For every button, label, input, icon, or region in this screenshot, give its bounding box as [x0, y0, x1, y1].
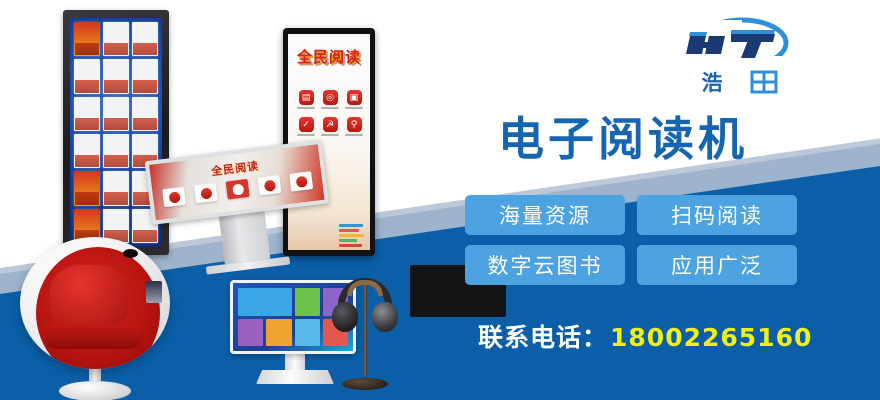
book-cover: [103, 134, 129, 168]
touch-table-tile: [194, 183, 218, 204]
page-title: 电子阅读机: [498, 114, 748, 166]
book-icon: ▤: [299, 90, 314, 105]
kiosk-app-label: [297, 134, 315, 136]
book-cover: [74, 97, 100, 131]
book-wall-kiosk-screen: [70, 18, 162, 247]
kiosk-app-item: ◎: [321, 90, 339, 109]
tile: [295, 319, 320, 347]
tile: [238, 319, 263, 347]
kiosk-app-item: ▣: [345, 90, 363, 109]
touch-table-tile: [257, 175, 281, 196]
headphones-on-stand: [330, 278, 400, 390]
feature-box-scan-to-read[interactable]: 扫码阅读: [637, 195, 797, 235]
company-logo: 浩: [676, 14, 800, 96]
touch-table-stand: [219, 211, 271, 264]
contact-line: 联系电话： 18002265160: [478, 318, 812, 354]
book-cover: [74, 134, 100, 168]
news-icon: ▣: [347, 90, 362, 105]
tile-icon: [168, 191, 180, 203]
red-ball-chair: [20, 237, 170, 387]
ball-chair-control-panel: [146, 281, 162, 303]
feature-box-digital-cloud-library[interactable]: 数字云图书: [465, 245, 625, 285]
kiosk-books-illustration: [339, 224, 365, 246]
desktop-tablet-neck: [285, 354, 305, 370]
kiosk-app-label: [297, 107, 315, 109]
kiosk-app-label: [321, 107, 339, 109]
ball-chair-backrest: [50, 265, 128, 327]
headphone-stand-base: [342, 378, 388, 390]
kiosk-screen-title: 全民阅读: [288, 50, 370, 65]
location-icon: ⚲: [347, 117, 362, 132]
product-banner: 全民阅读 ▤ ◎ ▣ ✓ ☭: [0, 0, 880, 400]
kiosk-app-item: ✓: [297, 117, 315, 136]
ball-chair-seat: [44, 325, 142, 349]
tile-icon: [200, 187, 212, 199]
contact-phone-number[interactable]: 18002265160: [608, 323, 812, 352]
book-cover: [103, 97, 129, 131]
headphone-earcup-left: [332, 302, 358, 332]
party-icon: ☭: [323, 117, 338, 132]
feature-box-wide-application[interactable]: 应用广泛: [637, 245, 797, 285]
book-cover: [74, 59, 100, 93]
tile: [266, 319, 291, 347]
tile: [295, 288, 320, 316]
kiosk-app-label: [345, 107, 363, 109]
kiosk-app-label: [321, 134, 339, 136]
book-cover: [74, 171, 100, 205]
tile-icon: [232, 183, 244, 195]
touch-table-tile-selected: [226, 179, 250, 200]
check-icon: ✓: [299, 117, 314, 132]
kiosk-app-item: ⚲: [345, 117, 363, 136]
feature-box-massive-resources[interactable]: 海量资源: [465, 195, 625, 235]
headphone-earcup-right: [372, 302, 398, 332]
feature-list: 海量资源 扫码阅读 数字云图书 应用广泛: [465, 195, 797, 285]
book-cover: [103, 171, 129, 205]
kiosk-app-item: ☭: [321, 117, 339, 136]
touch-table-tile: [289, 171, 313, 192]
ball-chair-shell: [20, 237, 170, 369]
book-cover: [103, 59, 129, 93]
kiosk-app-grid: ▤ ◎ ▣ ✓ ☭: [297, 90, 361, 136]
book-cover: [103, 22, 129, 56]
desktop-tablet-base: [256, 370, 334, 384]
logo-svg: 浩: [676, 14, 800, 96]
contact-label: 联系电话：: [478, 318, 608, 354]
tile-icon: [263, 179, 275, 191]
clock-icon: ◎: [323, 90, 338, 105]
kiosk-app-label: [345, 134, 363, 136]
ball-chair-base: [59, 381, 131, 400]
book-cover: [132, 22, 158, 56]
book-cover: [132, 97, 158, 131]
ball-chair-speaker-hole: [123, 249, 138, 258]
book-cover: [132, 59, 158, 93]
touch-table-tile: [162, 187, 186, 208]
logo-char-hao: 浩: [702, 71, 723, 95]
kiosk-app-item: ▤: [297, 90, 315, 109]
tile-icon: [295, 175, 307, 187]
book-cover: [74, 22, 100, 56]
tile: [238, 288, 292, 316]
